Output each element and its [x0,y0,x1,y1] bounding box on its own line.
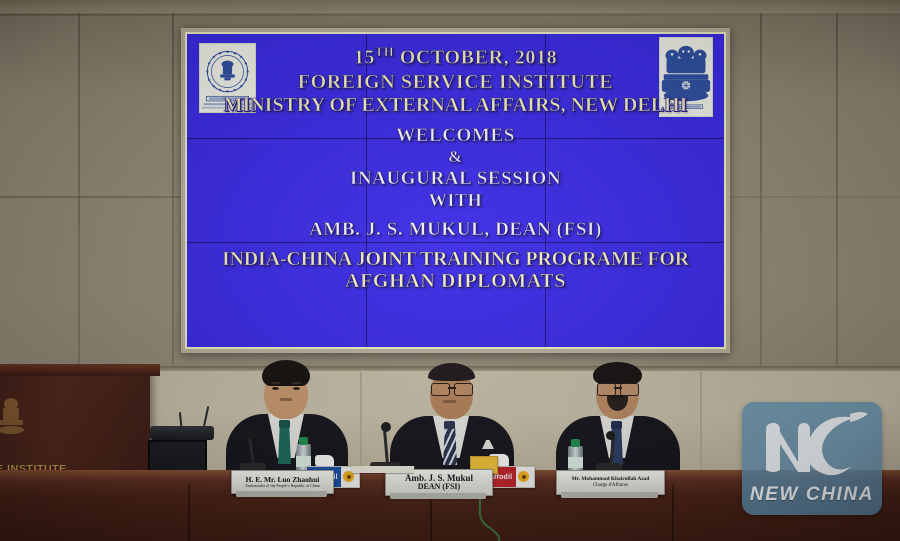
bottle-cap [299,437,307,445]
necktie-knot [611,421,622,429]
nc-monogram-icon [754,408,870,480]
nameplate-center: Amb. J. S. Mukul DEAN (FSI) [385,469,493,496]
slide-line-with: WITH [187,191,724,209]
wall-seam [700,372,702,482]
bottle-cap [571,439,579,447]
eyeglasses-icon [430,382,474,396]
nameplate-stand [236,491,327,497]
table-seam [188,484,190,541]
necktie-knot [279,420,290,428]
hair [262,360,310,386]
slide-line-date: 15TH OCTOBER, 2018 [187,46,724,68]
nameplate-subtitle: Charge d'Affaires [593,483,628,488]
wifi-router [150,426,214,440]
sunflower-center [347,475,351,479]
hair [593,362,642,384]
nameplate-stand [390,493,486,499]
slide-line-diplomats: AFGHAN DIPLOMATS [187,271,724,291]
mouth [443,400,456,403]
sunflower-center [522,475,526,479]
eyeglasses-icon [596,382,640,396]
eye [293,387,300,390]
necktie [278,424,291,464]
microphone-head [247,430,256,439]
nameplate-subtitle: Ambassador of the People's Republic of C… [245,484,320,488]
podium-crest-icon [0,390,28,460]
video-wall-display[interactable]: 15TH OCTOBER, 2018 FOREIGN SERVICE INSTI… [181,28,730,353]
wall-seam [0,14,900,16]
eye [272,387,279,390]
slide-line-ministry: MINISTRY OF EXTERNAL AFFAIRS, NEW DELHI [187,95,724,115]
moustache [610,395,624,398]
slide-line-ampersand: & [187,148,724,165]
bottle-label [568,457,583,468]
podium-top-surface [0,364,160,376]
mouth [280,398,292,401]
new-china-watermark: NEW CHINA [742,402,882,515]
nameplate-stand [561,492,658,498]
slide-text-block: 15TH OCTOBER, 2018 FOREIGN SERVICE INSTI… [187,44,724,291]
watermark-label: NEW CHINA [742,484,882,506]
microphone-head [381,422,391,432]
slide-date-number: 15 [354,47,375,69]
nameplate-subtitle: DEAN (FSI) [418,483,460,491]
slide-line-institute: FOREIGN SERVICE INSTITUTE [187,72,724,92]
ceiling-band [0,0,900,13]
necktie [443,425,457,465]
table-seam [672,484,674,541]
slide-date-rest: OCTOBER, 2018 [394,47,557,69]
speech-papers [352,466,415,473]
slide-line-programme: INDIA-CHINA JOINT TRAINING PROGRAME FOR [187,249,724,269]
presentation-slide: 15TH OCTOBER, 2018 FOREIGN SERVICE INSTI… [185,32,726,349]
slide-line-dean: AMB. J. S. MUKUL, DEAN (FSI) [187,220,724,239]
slide-line-welcomes: WELCOMES [187,126,724,145]
water-bottle [568,439,583,474]
microphone-head [606,431,615,440]
slide-date-ordinal: TH [375,45,394,59]
necktie-knot [444,421,455,429]
photo-canvas: 15TH OCTOBER, 2018 FOREIGN SERVICE INSTI… [0,0,900,541]
hair [428,363,475,381]
slide-line-session: INAUGURAL SESSION [187,169,724,188]
